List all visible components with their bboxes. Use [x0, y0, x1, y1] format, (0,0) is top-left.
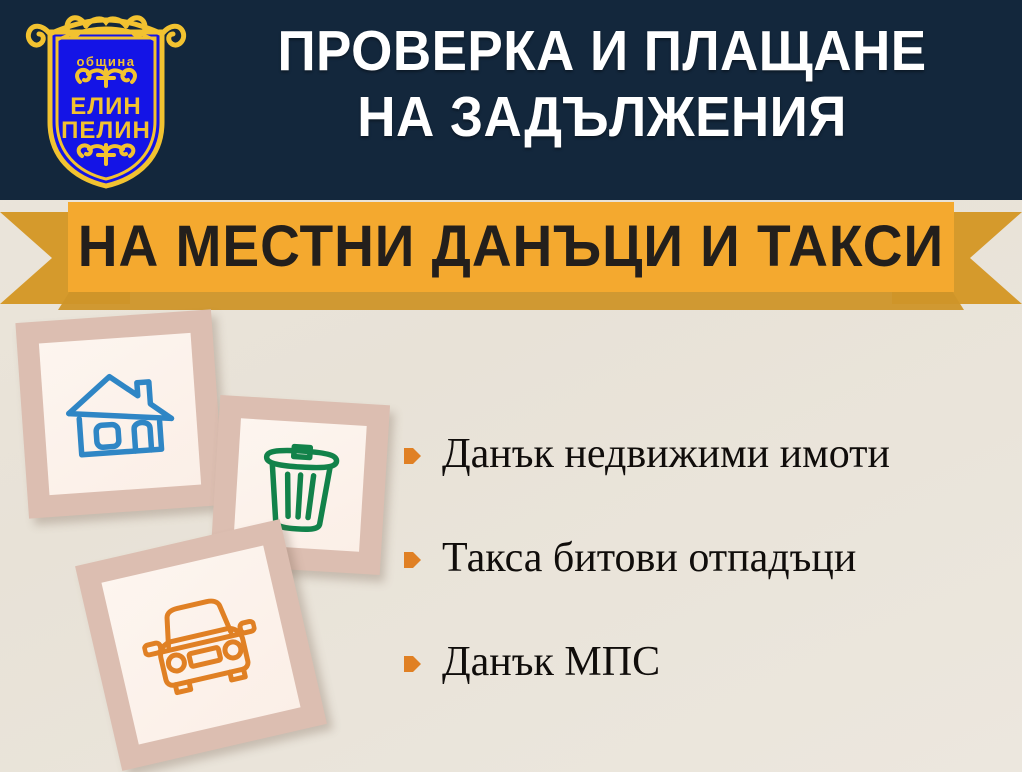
logo-line-small: община: [76, 54, 135, 69]
list-item-label: Данък МПС: [442, 638, 660, 686]
tax-type-list: Данък недвижими имоти Такса битови отпад…: [404, 428, 1014, 688]
ribbon-band: НА МЕСТНИ ДАНЪЦИ И ТАКСИ: [68, 202, 954, 292]
logo-line-main-2: ПЕЛИН: [61, 117, 151, 144]
ribbon-banner: НА МЕСТНИ ДАНЪЦИ И ТАКСИ: [0, 198, 1022, 314]
list-item[interactable]: Данък недвижими имоти: [404, 428, 1014, 480]
stamp-house: [15, 309, 224, 518]
arrow-bullet-icon: [404, 654, 421, 674]
list-item[interactable]: Данък МПС: [404, 636, 1014, 688]
arrow-bullet-icon: [404, 550, 421, 570]
list-item[interactable]: Такса битови отпадъци: [404, 532, 1014, 584]
car-front-icon: [134, 587, 268, 703]
house-icon: [62, 364, 178, 463]
arrow-bullet-icon: [404, 446, 421, 466]
list-item-label: Данък недвижими имоти: [442, 430, 890, 478]
poster-canvas: община ЕЛИН ПЕЛИН: [0, 0, 1022, 772]
header-bar: община ЕЛИН ПЕЛИН: [0, 0, 1022, 200]
list-item-label: Такса битови отпадъци: [442, 534, 856, 582]
stamp-paper: [39, 333, 201, 495]
ribbon-label: НА МЕСТНИ ДАНЪЦИ И ТАКСИ: [78, 218, 944, 276]
municipality-logo: община ЕЛИН ПЕЛИН: [22, 4, 190, 194]
page-title: ПРОВЕРКА И ПЛАЩАНЕ НА ЗАДЪЛЖЕНИЯ: [224, 18, 979, 150]
logo-line-main-1: ЕЛИН: [70, 93, 141, 120]
trash-bin-icon: [254, 434, 346, 535]
